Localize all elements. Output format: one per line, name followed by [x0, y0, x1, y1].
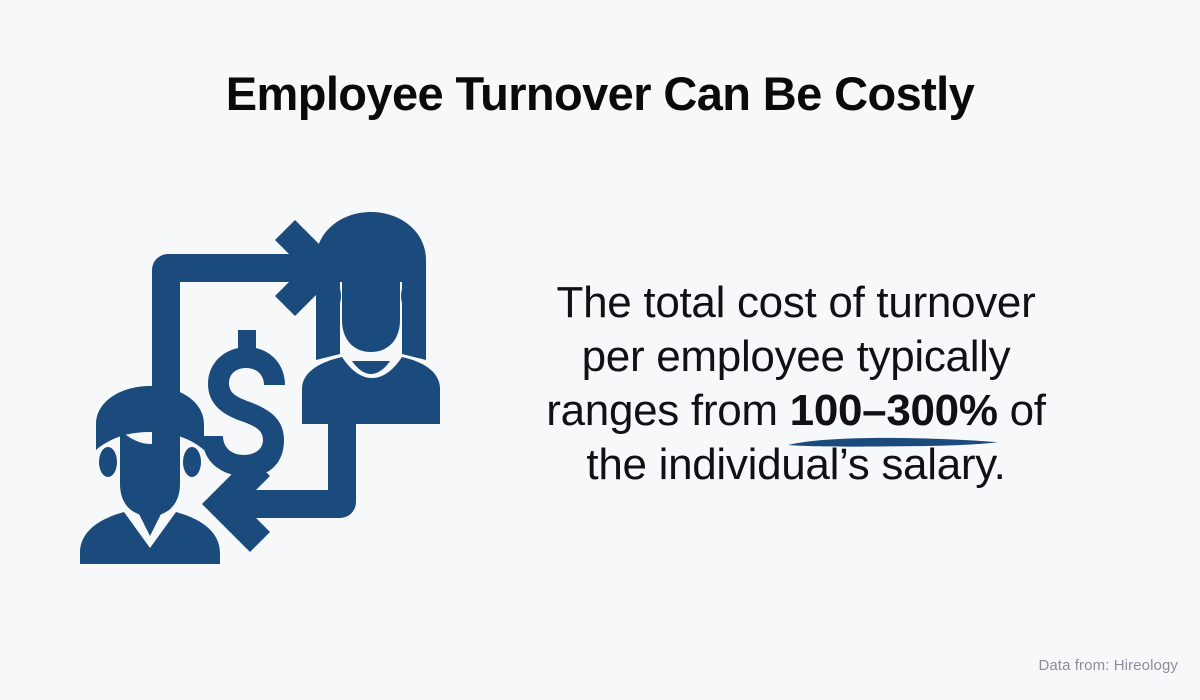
page-title: Employee Turnover Can Be Costly: [0, 68, 1200, 121]
person-male-icon: [80, 386, 220, 564]
infographic-canvas: Employee Turnover Can Be Costly: [0, 0, 1200, 700]
source-attribution: Data from: Hireology: [1038, 657, 1178, 674]
person-female-icon: [302, 212, 440, 424]
turnover-cycle-illustration: [80, 212, 440, 564]
body-line-3: ranges from 100–300% of: [496, 384, 1096, 438]
body-line-1: The total cost of turnover: [496, 276, 1096, 330]
body-line-4: the individual’s salary.: [496, 438, 1096, 492]
body-line-2: per employee typically: [496, 330, 1096, 384]
dollar-sign-icon: [202, 330, 285, 494]
body-line-3-prefix: ranges from: [546, 386, 789, 435]
turnover-range-highlight: 100–300%: [790, 386, 998, 435]
body-line-3-suffix: of: [998, 386, 1046, 435]
body-copy: The total cost of turnover per employee …: [496, 276, 1096, 492]
turnover-range-value: 100–300%: [790, 386, 998, 435]
